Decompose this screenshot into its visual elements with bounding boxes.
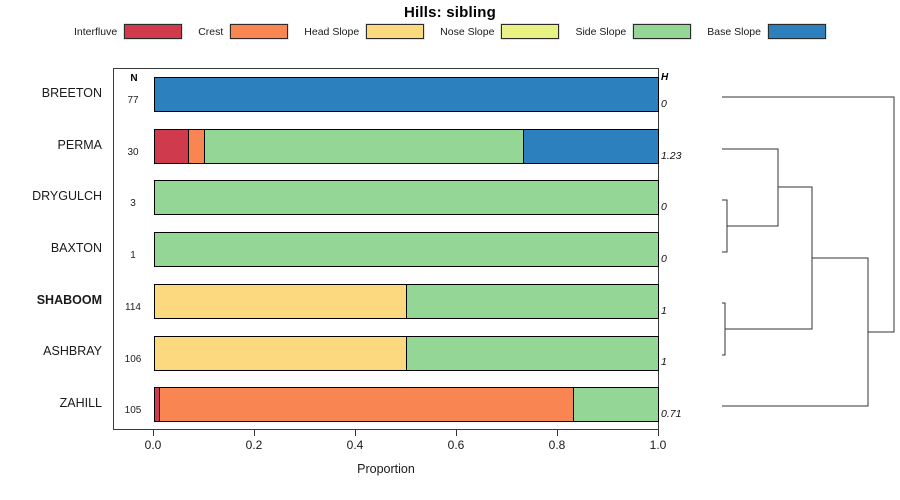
bar-segment[interactable] [407, 337, 659, 370]
legend-label: Interfluve [74, 26, 117, 38]
bar-segment[interactable] [574, 388, 657, 421]
legend-swatch [124, 24, 182, 39]
x-axis-tick-label: 0.0 [130, 438, 176, 452]
bar-segment[interactable] [155, 233, 658, 266]
dendrogram-svg [700, 68, 898, 430]
y-axis-label[interactable]: PERMA [0, 138, 102, 152]
n-value: 77 [114, 95, 152, 106]
x-axis-tick-label: 0.2 [231, 438, 277, 452]
stacked-bar[interactable] [154, 180, 659, 215]
bar-segment[interactable] [155, 130, 189, 163]
n-value: 105 [114, 405, 152, 416]
x-axis-tick [254, 430, 255, 436]
h-value: 1.23 [661, 150, 699, 162]
bar-row: 30 [114, 121, 660, 173]
h-value: 0.71 [661, 408, 699, 420]
legend-item[interactable]: Head Slope [304, 24, 424, 39]
h-column-header: H [661, 72, 691, 83]
legend-label: Nose Slope [440, 26, 494, 38]
x-axis-tick-label: 0.8 [534, 438, 580, 452]
bar-row: 106 [114, 328, 660, 380]
plot-area: N773031114106105 [113, 68, 659, 430]
n-value: 1 [114, 250, 152, 261]
legend-item[interactable]: Crest [198, 24, 288, 39]
h-value: 1 [661, 305, 699, 317]
n-value: 114 [114, 302, 152, 313]
legend-item[interactable]: Nose Slope [440, 24, 559, 39]
legend-label: Base Slope [707, 26, 761, 38]
chart-title: Hills: sibling [0, 4, 900, 21]
y-axis-label[interactable]: SHABOOM [0, 293, 102, 307]
x-axis-tick [658, 430, 659, 436]
y-axis-label[interactable]: DRYGULCH [0, 189, 102, 203]
legend-swatch [230, 24, 288, 39]
x-axis-tick [557, 430, 558, 436]
legend: InterfluveCrestHead SlopeNose SlopeSide … [0, 24, 900, 39]
x-axis-tick [153, 430, 154, 436]
y-axis-labels: BREETONPERMADRYGULCHBAXTONSHABOOMASHBRAY… [0, 68, 110, 430]
n-value: 30 [114, 147, 152, 158]
stacked-bar[interactable] [154, 129, 659, 164]
bar-segment[interactable] [155, 337, 407, 370]
n-value: 106 [114, 354, 152, 365]
bar-segment[interactable] [205, 130, 523, 163]
y-axis-label[interactable]: BREETON [0, 86, 102, 100]
n-value: 3 [114, 198, 152, 209]
h-value: 1 [661, 356, 699, 368]
legend-label: Crest [198, 26, 223, 38]
h-column: H01.2300110.71 [661, 68, 701, 430]
bar-segment[interactable] [160, 388, 574, 421]
x-axis-tick-label: 1.0 [635, 438, 681, 452]
legend-item[interactable]: Base Slope [707, 24, 826, 39]
legend-swatch [501, 24, 559, 39]
chart-root: Hills: sibling InterfluveCrestHead Slope… [0, 0, 900, 500]
h-value: 0 [661, 253, 699, 265]
bar-segment[interactable] [407, 285, 659, 318]
legend-swatch [633, 24, 691, 39]
y-axis-label[interactable]: ASHBRAY [0, 344, 102, 358]
bar-row: 3 [114, 172, 660, 224]
stacked-bar[interactable] [154, 284, 659, 319]
bar-row: 1 [114, 224, 660, 276]
h-value: 0 [661, 201, 699, 213]
bar-segment[interactable] [155, 181, 658, 214]
bar-segment[interactable] [155, 78, 658, 111]
legend-item[interactable]: Side Slope [575, 24, 691, 39]
legend-swatch [366, 24, 424, 39]
bar-row: 105 [114, 379, 660, 431]
legend-label: Head Slope [304, 26, 359, 38]
stacked-bar[interactable] [154, 387, 659, 422]
legend-swatch [768, 24, 826, 39]
stacked-bar[interactable] [154, 336, 659, 371]
stacked-bar[interactable] [154, 232, 659, 267]
bar-segment[interactable] [524, 130, 658, 163]
dendrogram [700, 68, 898, 430]
y-axis-label[interactable]: ZAHILL [0, 396, 102, 410]
x-axis-tick [355, 430, 356, 436]
bar-rows: N773031114106105 [114, 69, 660, 431]
legend-label: Side Slope [575, 26, 626, 38]
bar-row: 114 [114, 276, 660, 328]
x-axis: 0.00.20.40.60.81.0 [113, 430, 659, 456]
x-axis-tick-label: 0.6 [433, 438, 479, 452]
bar-segment[interactable] [189, 130, 206, 163]
stacked-bar[interactable] [154, 77, 659, 112]
x-axis-tick-label: 0.4 [332, 438, 378, 452]
legend-item[interactable]: Interfluve [74, 24, 182, 39]
x-axis-title: Proportion [113, 462, 659, 476]
h-value: 0 [661, 98, 699, 110]
bar-segment[interactable] [155, 285, 407, 318]
bar-row: 77 [114, 69, 660, 121]
x-axis-tick [456, 430, 457, 436]
y-axis-label[interactable]: BAXTON [0, 241, 102, 255]
